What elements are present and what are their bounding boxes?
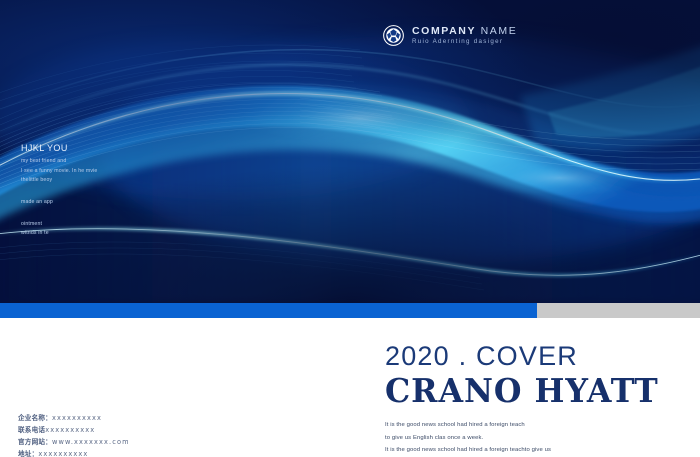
company-tagline: Ruio Adernting dasiger [412, 39, 517, 45]
hero-panel: COMPANY NAME Ruio Adernting dasiger HJKL… [0, 0, 700, 303]
cover-paragraph: It is the good news school had hired a f… [385, 419, 685, 457]
cover-title-block: 2020 . COVER CRANO HYATT It is the good … [385, 343, 685, 457]
hero-line-3: thelittle beoy [21, 176, 141, 186]
company-name: COMPANY NAME [412, 26, 517, 37]
company-name-bold: COMPANY [412, 25, 476, 37]
hero-line-6: witnds in te [21, 229, 141, 239]
hero-line-5: ointment [21, 220, 141, 230]
accent-bar-grey [537, 303, 700, 318]
contact-value: xxxxxxxxxx [45, 426, 95, 434]
company-logo-block[interactable]: COMPANY NAME Ruio Adernting dasiger [383, 25, 517, 46]
hero-line-1: my best friend and [21, 157, 141, 167]
contact-row: 地址：xxxxxxxxxx [18, 448, 130, 457]
cover-paragraph-line: It is the good news school had hired a f… [385, 419, 685, 432]
cover-main-title: CRANO HYATT [385, 374, 673, 407]
contact-label: 企业名称： [18, 414, 52, 422]
hero-copy-block: HJKL YOU my best friend and I see a funn… [21, 143, 141, 239]
accent-bar-blue [0, 303, 537, 318]
contact-value: xxxxxxxxxx [52, 414, 102, 422]
contact-row: 联系电话xxxxxxxxxx [18, 424, 130, 436]
logo-text-group: COMPANY NAME Ruio Adernting dasiger [412, 26, 517, 46]
contact-value: xxxxxxxxxx [38, 450, 88, 457]
contact-label: 联系电话 [18, 426, 45, 434]
contact-label: 地址： [18, 450, 38, 457]
cover-design-canvas: COMPANY NAME Ruio Adernting dasiger HJKL… [0, 0, 700, 457]
contact-row: 企业名称：xxxxxxxxxx [18, 412, 130, 424]
globe-soccer-ball-icon [383, 25, 404, 46]
hero-line-4: made an app [21, 198, 141, 208]
company-name-thin: NAME [476, 25, 517, 37]
cover-paragraph-line: It is the good news school had hired a f… [385, 444, 685, 457]
bottom-white-section: 2020 . COVER CRANO HYATT It is the good … [0, 318, 700, 457]
contact-value: www.xxxxxxx.com [52, 438, 130, 446]
cover-paragraph-line: to give us English clas once a week. [385, 432, 685, 445]
contact-label: 官方网站： [18, 438, 52, 446]
contact-row: 官方网站：www.xxxxxxx.com [18, 436, 130, 448]
hero-line-2: I see a funny movie. In he mvie [21, 167, 141, 177]
hero-heading: HJKL YOU [21, 143, 141, 153]
cover-year-label: 2020 . COVER [385, 343, 685, 370]
contact-info-block: 企业名称：xxxxxxxxxx 联系电话xxxxxxxxxx 官方网站：www.… [18, 412, 130, 457]
